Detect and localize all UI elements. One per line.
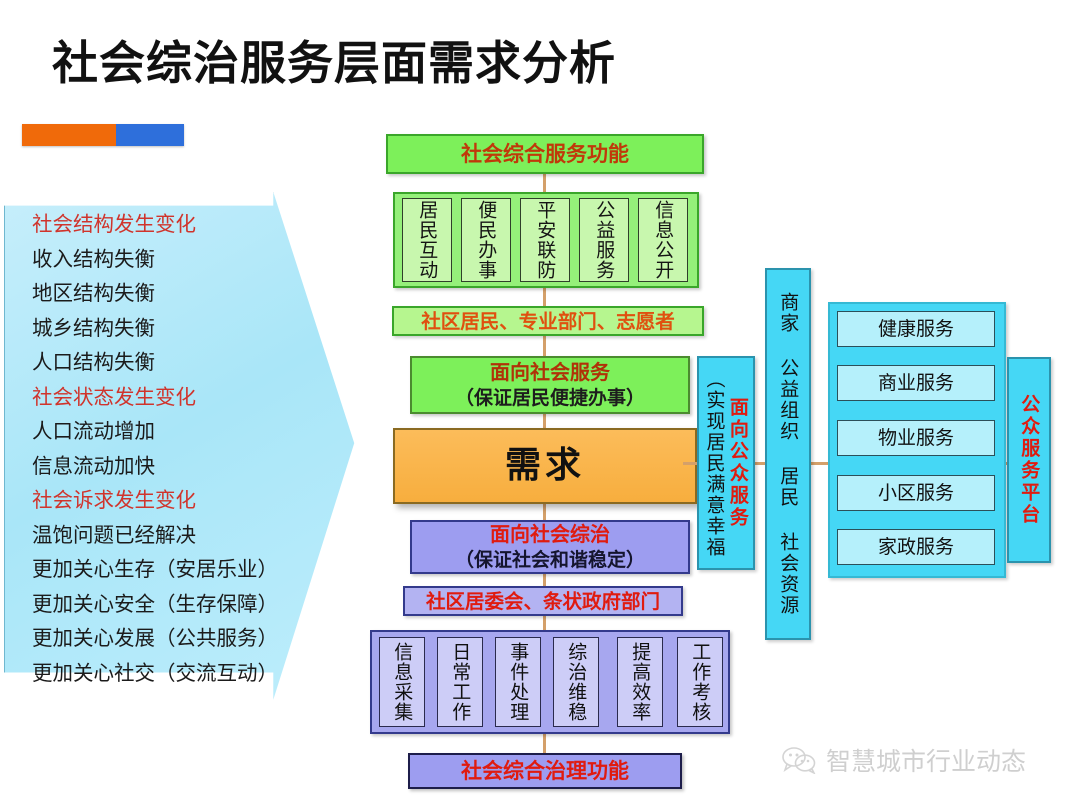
list-item: 城乡结构失衡	[32, 318, 304, 339]
governance-oriented-title: 面向社会综治	[490, 523, 610, 547]
accent-bar-blue-segment	[116, 124, 184, 146]
list-item: 温饱问题已经解决	[32, 525, 304, 546]
service-box-1[interactable]: 商业服务	[837, 365, 995, 401]
service-oriented-title: 面向社会服务	[490, 361, 610, 385]
platform-label: 公众服务平台	[1018, 394, 1040, 526]
service-box-3[interactable]: 小区服务	[837, 475, 995, 511]
list-item: 社会结构发生变化	[32, 214, 304, 235]
need-box: 需求	[393, 428, 697, 504]
accent-bar-orange-segment	[22, 124, 116, 146]
list-item: 地区结构失衡	[32, 283, 304, 304]
resources-column-label: 商家 公益组织 居民 社会资源	[777, 292, 799, 616]
wechat-icon	[782, 746, 816, 774]
governance-item-0[interactable]: 信息采集	[379, 637, 425, 727]
list-item: 人口结构失衡	[32, 352, 304, 373]
service-oriented-sub: （保证居民便捷办事）	[455, 387, 645, 409]
list-item: 更加关心生存（安居乐业）	[32, 559, 304, 580]
list-item: 人口流动增加	[32, 421, 304, 442]
governance-item-5[interactable]: 工作考核	[677, 637, 723, 727]
watermark-text: 智慧城市行业动态	[826, 742, 1026, 778]
public-service-red-text: 面向公众服务	[727, 397, 749, 529]
watermark: 智慧城市行业动态	[782, 742, 1026, 778]
service-item-0[interactable]: 居民互动	[402, 198, 452, 282]
service-item-3[interactable]: 公益服务	[579, 198, 629, 282]
connector-vertical	[543, 286, 546, 308]
page-title: 社会综治服务层面需求分析	[52, 40, 616, 86]
list-item: 社会诉求发生变化	[32, 490, 304, 511]
list-item: 更加关心社交（交流互动）	[32, 663, 304, 684]
governance-oriented-box: 面向社会综治 （保证社会和谐稳定）	[410, 520, 690, 574]
governance-item-1[interactable]: 日常工作	[437, 637, 483, 727]
service-item-4[interactable]: 信息公开	[638, 198, 688, 282]
governance-actors-box: 社区居委会、条状政府部门	[403, 586, 683, 616]
public-service-black-text: （实现居民满意幸福	[703, 369, 725, 558]
service-function-header: 社会综合服务功能	[386, 134, 704, 174]
service-box-4[interactable]: 家政服务	[837, 529, 995, 565]
governance-function-footer: 社会综合治理功能	[408, 753, 682, 789]
diagram-canvas: 社会综治服务层面需求分析 社会结构发生变化 收入结构失衡 地区结构失衡 城乡结构…	[0, 0, 1080, 810]
governance-item-3[interactable]: 综治维稳	[553, 637, 599, 727]
service-box-2[interactable]: 物业服务	[837, 420, 995, 456]
service-actors-box: 社区居民、专业部门、志愿者	[392, 306, 704, 336]
connector-vertical	[543, 334, 546, 358]
public-service-oriented-box: （实现居民满意幸福 面向公众服务	[697, 356, 755, 570]
resources-column: 商家 公益组织 居民 社会资源	[765, 268, 811, 640]
list-item: 更加关心发展（公共服务）	[32, 628, 304, 649]
service-oriented-box: 面向社会服务 （保证居民便捷办事）	[410, 356, 690, 414]
list-item: 社会状态发生变化	[32, 387, 304, 408]
service-box-0[interactable]: 健康服务	[837, 311, 995, 347]
arrow-text-list: 社会结构发生变化 收入结构失衡 地区结构失衡 城乡结构失衡 人口结构失衡 社会状…	[32, 214, 304, 697]
accent-bar	[22, 124, 184, 146]
social-change-arrow-panel: 社会结构发生变化 收入结构失衡 地区结构失衡 城乡结构失衡 人口结构失衡 社会状…	[4, 192, 356, 738]
public-service-platform-box: 公众服务平台	[1007, 357, 1051, 563]
service-item-1[interactable]: 便民办事	[461, 198, 511, 282]
governance-item-2[interactable]: 事件处理	[495, 637, 541, 727]
connector-vertical	[543, 733, 546, 753]
governance-item-4[interactable]: 提高效率	[617, 637, 663, 727]
governance-oriented-sub: （保证社会和谐稳定）	[455, 549, 645, 571]
service-item-2[interactable]: 平安联防	[520, 198, 570, 282]
list-item: 收入结构失衡	[32, 249, 304, 270]
list-item: 更加关心安全（生存保障）	[32, 594, 304, 615]
list-item: 信息流动加快	[32, 456, 304, 477]
